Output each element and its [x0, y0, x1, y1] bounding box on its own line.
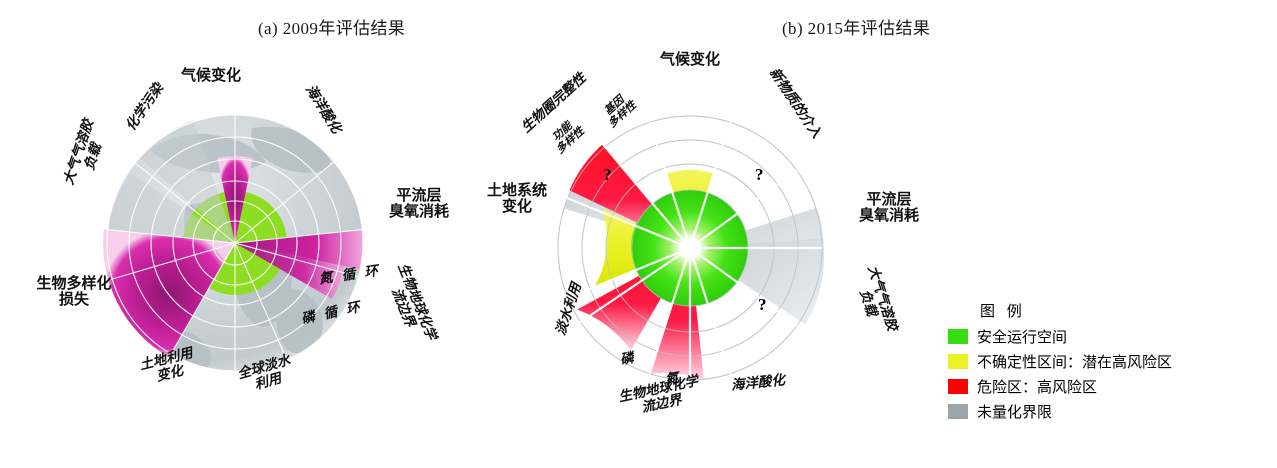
legend-swatch-unquantified: [948, 404, 968, 419]
legend-item-unquantified: 未量化界限: [948, 399, 1268, 424]
legend: 图 例 安全运行空间 不确定性区间：潜在高风险区 危险区：高风险区 未量化界限: [948, 300, 1268, 424]
unquantified-marker-aerosol: ?: [758, 295, 767, 315]
unquantified-marker-novel-entities: ?: [755, 165, 764, 185]
label-a-climate-change: 气候变化: [166, 68, 256, 84]
figure-canvas: (a) 2009年评估结果 (b) 2015年评估结果: [0, 0, 1277, 468]
label-b-stratospheric-ozone: 平流层 臭氧消耗: [838, 192, 940, 224]
label-a-biodiversity-loss: 生物多样化 损失: [14, 276, 134, 308]
legend-swatch-safe: [948, 329, 968, 344]
panel-b-sectors: [558, 116, 824, 380]
legend-item-safe: 安全运行空间: [948, 324, 1268, 349]
label-b-land-system-change: 土地系统 变化: [470, 183, 564, 215]
legend-swatch-uncertain: [948, 354, 968, 369]
legend-label-high-risk: 危险区：高风险区: [977, 376, 1097, 397]
legend-item-high-risk: 危险区：高风险区: [948, 374, 1268, 399]
legend-title: 图 例: [980, 300, 1268, 321]
label-b-climate-change: 气候变化: [645, 52, 735, 68]
label-a-stratospheric-ozone: 平流层 臭氧消耗: [368, 188, 470, 220]
legend-swatch-high-risk: [948, 379, 968, 394]
unquantified-marker-biosphere: ?: [603, 165, 612, 185]
legend-label-uncertain: 不确定性区间：潜在高风险区: [977, 351, 1172, 372]
legend-label-safe: 安全运行空间: [977, 326, 1067, 347]
legend-item-uncertain: 不确定性区间：潜在高风险区: [948, 349, 1268, 374]
legend-label-unquantified: 未量化界限: [977, 401, 1052, 422]
